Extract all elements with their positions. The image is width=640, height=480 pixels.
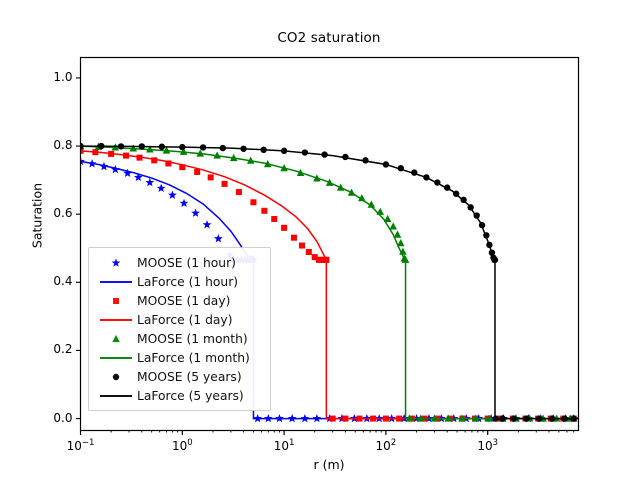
legend-key-none-icon [95,273,137,291]
x-tick-label: 100 [152,439,212,453]
legend-label: MOOSE (1 day) [137,294,230,308]
data-marker-square [261,208,267,214]
data-marker-square [291,235,297,241]
legend-row: MOOSE (1 month) [95,329,264,348]
y-tick-label: 1.0 [29,70,73,84]
data-marker-square [271,216,277,222]
data-marker-star [180,199,189,207]
legend-key-square-icon [95,292,137,310]
y-tick-label: 0.0 [29,411,73,425]
legend-row: MOOSE (1 hour) [95,253,264,272]
legend-row: LaForce (1 month) [95,348,264,367]
legend-row: MOOSE (5 years) [95,367,264,386]
data-marker-square [208,174,214,180]
data-marker-circle [113,373,119,379]
data-marker-square [299,243,305,249]
legend-row: LaForce (1 hour) [95,272,264,291]
data-marker-square [236,189,242,195]
legend-key-none-icon [95,387,137,405]
x-tick-label: 102 [356,439,416,453]
data-marker-star [168,191,177,199]
data-marker-star [112,258,121,266]
data-marker-star [191,209,200,217]
legend-key-circle-icon [95,368,137,386]
y-tick-label: 0.2 [29,342,73,356]
x-axis-label: r (m) [80,457,578,472]
data-marker-square [250,199,256,205]
legend-row: MOOSE (1 day) [95,291,264,310]
chart-legend: MOOSE (1 hour)LaForce (1 hour)MOOSE (1 d… [88,247,271,411]
data-marker-star [203,220,212,228]
legend-key-triangle-icon [95,330,137,348]
data-marker-triangle [389,222,397,229]
legend-marker-swatch [106,331,126,347]
legend-key-none-icon [95,349,137,367]
legend-label: LaForce (1 day) [137,313,233,327]
legend-marker-swatch [106,369,126,385]
legend-row: LaForce (1 day) [95,310,264,329]
legend-line-swatch [100,281,132,283]
legend-key-star-icon [95,254,137,272]
legend-marker-swatch [106,293,126,309]
legend-row: LaForce (5 years) [95,386,264,405]
data-marker-square [306,249,312,255]
data-marker-star [157,184,166,192]
data-marker-square [194,169,200,175]
data-marker-star [214,234,223,242]
legend-line-swatch [100,319,132,321]
legend-line-swatch [100,357,132,359]
x-tick-label: 101 [254,439,314,453]
data-marker-square [113,298,119,304]
legend-label: LaForce (1 hour) [137,275,238,289]
y-axis-label: Saturation [30,146,45,286]
legend-line-swatch [100,395,132,397]
figure-canvas: CO2 saturation 0.00.20.40.60.81.0 10−110… [0,0,640,480]
x-tick-label: 103 [458,439,518,453]
legend-label: MOOSE (1 hour) [137,256,236,270]
legend-label: MOOSE (1 month) [137,332,248,346]
data-marker-square [222,181,228,187]
legend-marker-swatch [106,255,126,271]
data-marker-triangle [112,334,120,341]
legend-label: MOOSE (5 years) [137,370,242,384]
x-tick-label: 10−1 [51,439,111,453]
legend-label: LaForce (5 years) [137,389,244,403]
data-marker-square [281,225,287,231]
legend-key-none-icon [95,311,137,329]
legend-label: LaForce (1 month) [137,351,250,365]
